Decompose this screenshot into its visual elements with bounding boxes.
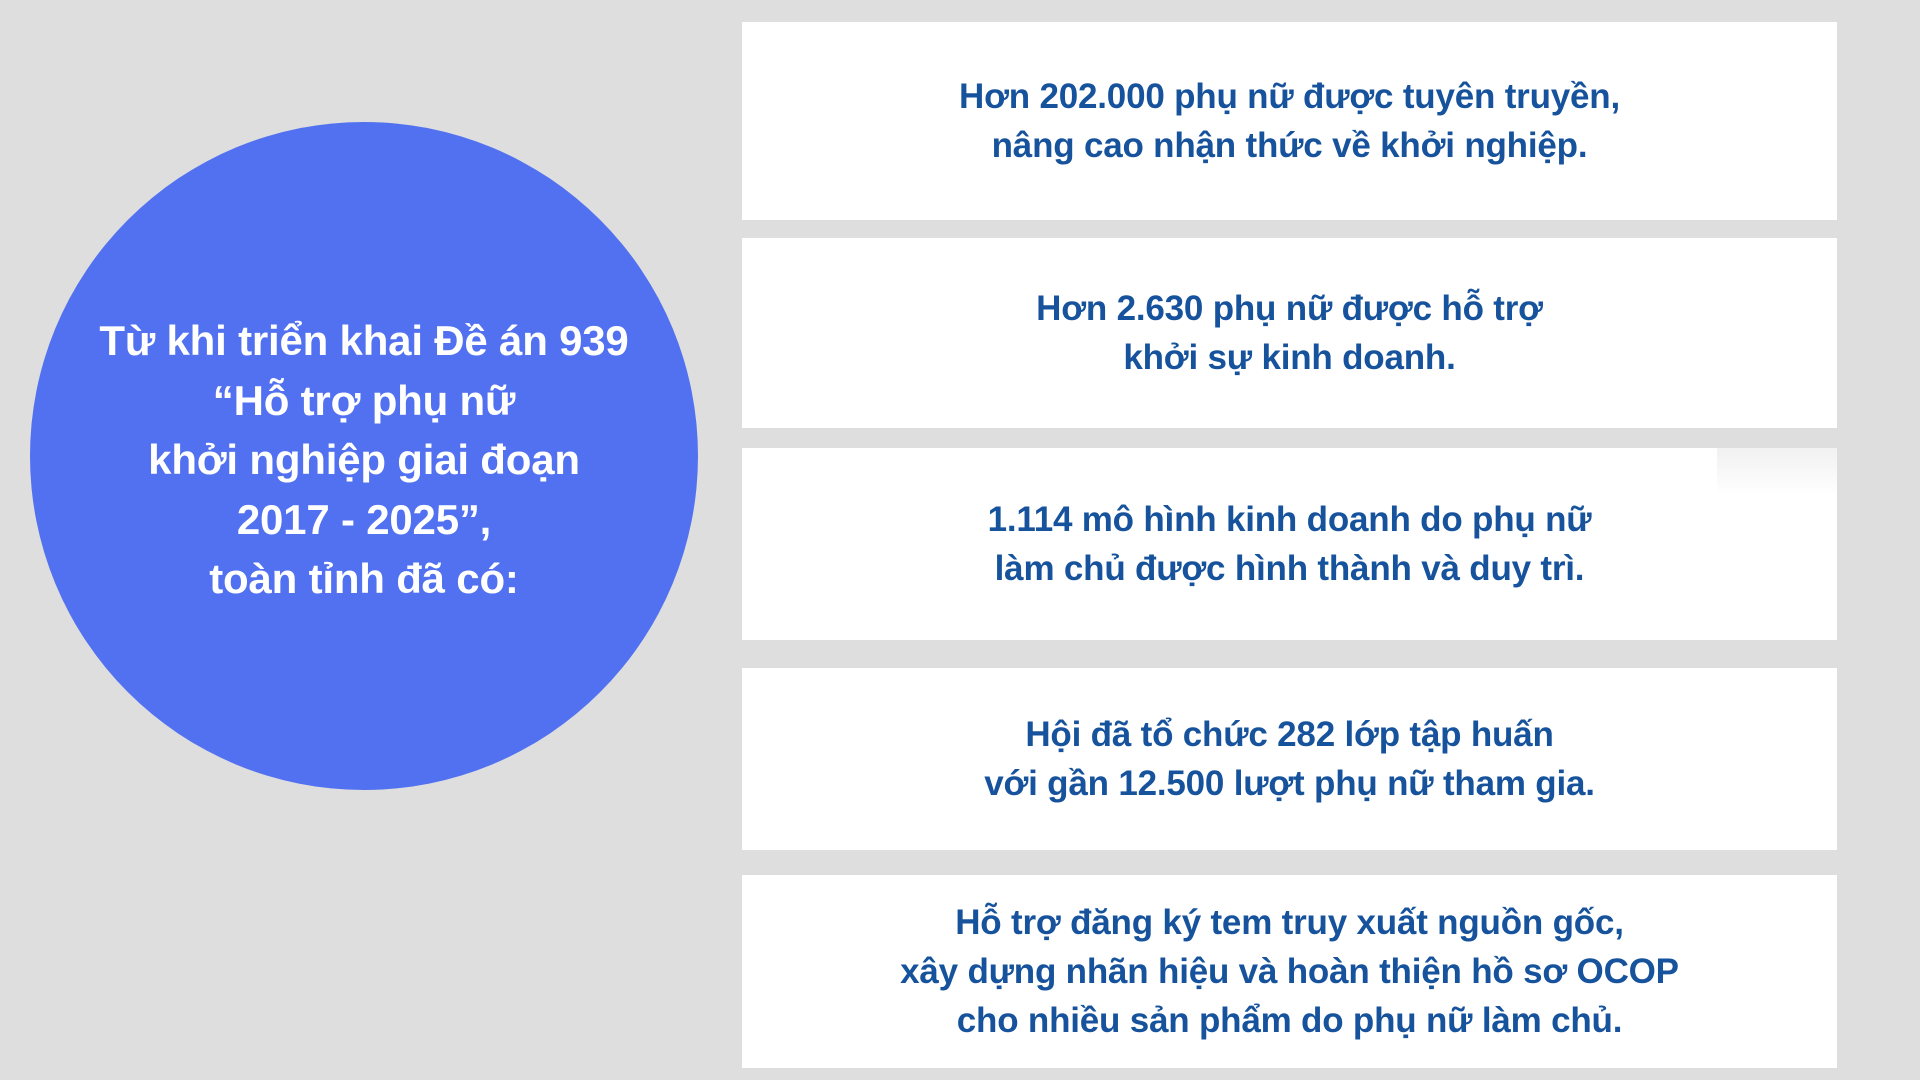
statistic-line: cho nhiều sản phẩm do phụ nữ làm chủ. [768,996,1811,1045]
statistic-card-list: Hơn 202.000 phụ nữ được tuyên truyền, nâ… [742,0,1837,1080]
statistic-card: 1.114 mô hình kinh doanh do phụ nữ làm c… [742,448,1837,640]
statistic-line: Hơn 2.630 phụ nữ được hỗ trợ [768,284,1811,333]
circle-line-3: khởi nghiệp giai đoạn [44,430,684,490]
statistic-line: 1.114 mô hình kinh doanh do phụ nữ [768,495,1811,544]
statistic-card-text: Hơn 202.000 phụ nữ được tuyên truyền, nâ… [742,72,1837,170]
statistic-card: Hội đã tổ chức 282 lớp tập huấn với gần … [742,668,1837,850]
statistic-line: khởi sự kinh doanh. [768,333,1811,382]
circle-line-2: “Hỗ trợ phụ nữ [44,371,684,431]
circle-line-1: Từ khi triển khai Đề án 939 [44,311,684,371]
statistic-line: Hội đã tổ chức 282 lớp tập huấn [768,710,1811,759]
statistic-line: nâng cao nhận thức về khởi nghiệp. [768,121,1811,170]
statistic-card: Hơn 2.630 phụ nữ được hỗ trợ khởi sự kin… [742,238,1837,428]
statistic-line: Hơn 202.000 phụ nữ được tuyên truyền, [768,72,1811,121]
summary-circle: Từ khi triển khai Đề án 939 “Hỗ trợ phụ … [30,122,698,790]
statistic-card: Hơn 202.000 phụ nữ được tuyên truyền, nâ… [742,22,1837,220]
statistic-card-text: Hội đã tổ chức 282 lớp tập huấn với gần … [742,710,1837,808]
infographic-canvas: Từ khi triển khai Đề án 939 “Hỗ trợ phụ … [0,0,1920,1080]
statistic-card-text: 1.114 mô hình kinh doanh do phụ nữ làm c… [742,495,1837,593]
circle-line-4: 2017 - 2025”, [44,490,684,550]
statistic-card: Hỗ trợ đăng ký tem truy xuất nguồn gốc, … [742,875,1837,1068]
summary-circle-text: Từ khi triển khai Đề án 939 “Hỗ trợ phụ … [44,303,684,609]
statistic-card-text: Hơn 2.630 phụ nữ được hỗ trợ khởi sự kin… [742,284,1837,382]
statistic-line: với gần 12.500 lượt phụ nữ tham gia. [768,759,1811,808]
statistic-line: Hỗ trợ đăng ký tem truy xuất nguồn gốc, [768,898,1811,947]
statistic-line: làm chủ được hình thành và duy trì. [768,544,1811,593]
statistic-card-text: Hỗ trợ đăng ký tem truy xuất nguồn gốc, … [742,898,1837,1045]
circle-line-5: toàn tỉnh đã có: [44,549,684,609]
statistic-line: xây dựng nhãn hiệu và hoàn thiện hồ sơ O… [768,947,1811,996]
